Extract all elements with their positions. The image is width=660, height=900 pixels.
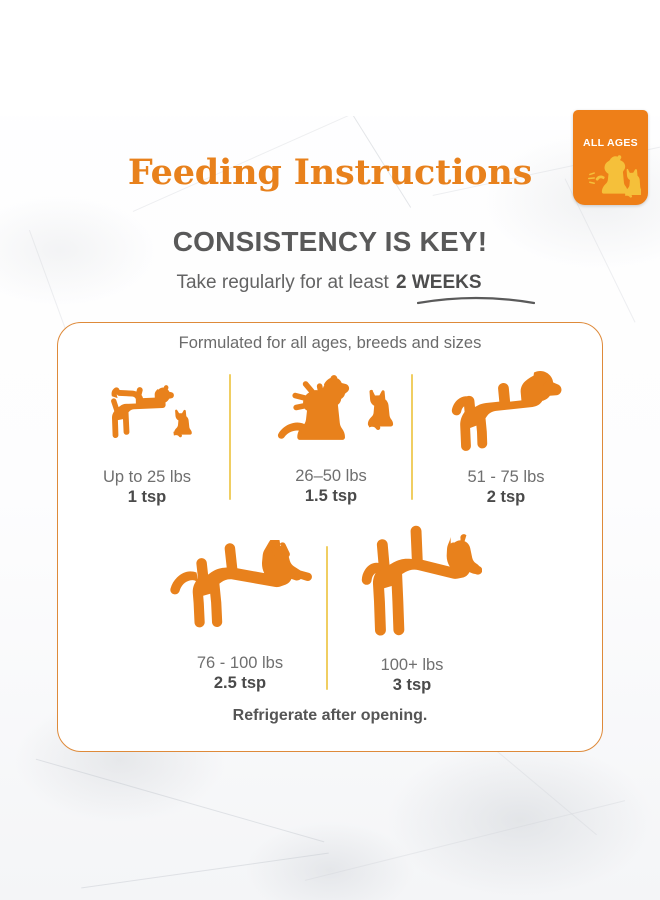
weight-range-label: 51 - 75 lbs: [432, 468, 580, 487]
underline-arc: [417, 295, 535, 305]
weight-range-label: 76 - 100 lbs: [160, 654, 320, 673]
dosage-cell: 76 - 100 lbs 2.5 tsp: [160, 540, 320, 694]
great-dane-dog-icon: [342, 518, 482, 650]
duration-prefix: Take regularly for at least: [176, 272, 388, 293]
page-title: Feeding Instructions: [0, 152, 660, 193]
dosage-cell: Up to 25 lbs 1 tsp: [73, 376, 221, 508]
small-dog-and-cat-icon: [84, 376, 210, 460]
refrigerate-note: Refrigerate after opening.: [57, 707, 603, 725]
dose-label: 2 tsp: [432, 487, 580, 508]
silhouette-art: [252, 368, 410, 460]
subtitle: CONSISTENCY IS KEY!: [0, 226, 660, 258]
cell-divider: [326, 546, 328, 690]
background-white-band: [0, 0, 660, 116]
silhouette-art: [336, 518, 488, 650]
silhouette-art: [160, 540, 320, 648]
all-ages-badge: ALL AGES: [573, 110, 648, 205]
sitting-dog-and-cat-icon: [256, 368, 406, 460]
dosage-cell: 26–50 lbs 1.5 tsp: [252, 368, 410, 507]
duration-emphasis: 2 WEEKS: [394, 272, 484, 293]
dog-and-cat-icon: [581, 152, 641, 200]
weight-range-label: 26–50 lbs: [252, 467, 410, 486]
shepherd-dog-icon: [166, 540, 314, 648]
card-intro-text: Formulated for all ages, breeds and size…: [0, 334, 660, 353]
labrador-dog-icon: [438, 362, 574, 462]
cell-divider: [229, 374, 231, 500]
cell-divider: [411, 374, 413, 500]
weight-range-label: 100+ lbs: [336, 656, 488, 675]
dose-label: 2.5 tsp: [160, 673, 320, 694]
dose-label: 1.5 tsp: [252, 486, 410, 507]
weight-range-label: Up to 25 lbs: [73, 468, 221, 487]
all-ages-badge-label: ALL AGES: [573, 137, 648, 149]
dose-label: 1 tsp: [73, 487, 221, 508]
silhouette-art: [73, 376, 221, 460]
dosage-cell: 51 - 75 lbs 2 tsp: [432, 362, 580, 508]
silhouette-art: [432, 362, 580, 462]
infographic-canvas: Feeding Instructions CONSISTENCY IS KEY!…: [0, 0, 660, 900]
dosage-cell: 100+ lbs 3 tsp: [336, 518, 488, 696]
dose-label: 3 tsp: [336, 675, 488, 696]
duration-instruction: Take regularly for at least 2 WEEKS: [0, 272, 660, 294]
